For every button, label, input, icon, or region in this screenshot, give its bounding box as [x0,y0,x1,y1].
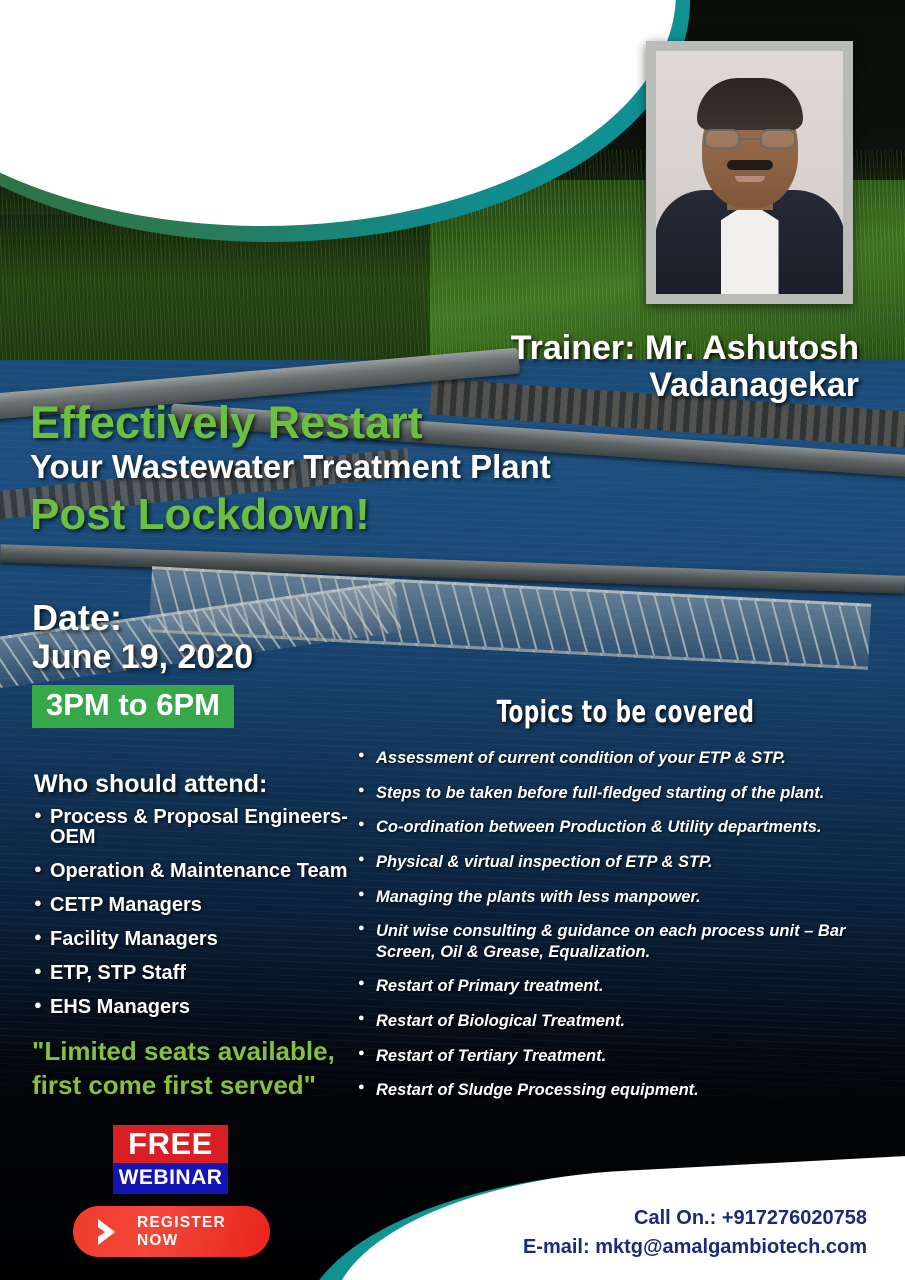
trainer-moustache [727,160,773,170]
trainer-shirt [721,202,779,294]
trainer-photo-inner [656,51,843,294]
list-item: EHS Managers [34,997,364,1017]
headline: Effectively Restart Your Wastewater Trea… [30,400,551,540]
trainer-name: Trainer: Mr. Ashutosh Vadanagekar [511,330,859,403]
list-item: Steps to be taken before full-fledged st… [358,783,893,804]
trainer-photo [646,41,853,304]
list-item: Facility Managers [34,929,364,949]
contact-phone[interactable]: Call On.: +917276020758 [523,1204,867,1233]
contact-block: Call On.: +917276020758 E-mail: mktg@ama… [523,1204,867,1262]
headline-line1: Effectively Restart [30,400,551,445]
time-badge: 3PM to 6PM [32,685,234,729]
list-item: Restart of Biological Treatment. [358,1011,893,1032]
register-now-button[interactable]: REGISTER NOW [73,1206,270,1257]
list-item: Process & Proposal Engineers-OEM [34,807,364,847]
list-item: Physical & virtual inspection of ETP & S… [358,852,893,873]
list-item: Co-ordination between Production & Utili… [358,817,893,838]
contact-email[interactable]: E-mail: mktg@amalgambiotech.com [523,1233,867,1262]
date-value: June 19, 2020 [32,636,253,679]
list-item: Managing the plants with less manpower. [358,887,893,908]
trainer-hair [697,78,803,130]
list-item: Restart of Tertiary Treatment. [358,1046,893,1067]
attendees-list: Process & Proposal Engineers-OEM Operati… [34,807,364,1017]
trainer-name-line2: Vadanagekar [511,367,859,404]
topics-title: Topics to be covered [412,695,840,730]
limited-seats-note: "Limited seats available, first come fir… [32,1035,362,1103]
list-item: Restart of Sludge Processing equipment. [358,1080,893,1101]
attendees-title: Who should attend: [34,770,364,799]
trainer-mouth [735,176,765,182]
list-item: CETP Managers [34,895,364,915]
free-webinar-badge: FREE WEBINAR [113,1125,228,1194]
date-block: Date: June 19, 2020 3PM to 6PM [32,600,253,728]
date-label: Date: [32,600,253,636]
list-item: Unit wise consulting & guidance on each … [358,921,893,962]
webinar-poster: biotech amalgam Innovations | Technologi… [0,0,905,1280]
topics-list: Assessment of current condition of your … [358,748,893,1101]
register-now-label: REGISTER NOW [137,1214,270,1250]
trainer-glasses-icon [704,129,796,149]
attendees-block: Who should attend: Process & Proposal En… [34,770,364,1031]
headline-line3: Post Lockdown! [30,490,551,541]
trainer-name-line1: Trainer: Mr. Ashutosh [511,330,859,367]
headline-line2: Your Wastewater Treatment Plant [30,445,551,490]
list-item: Restart of Primary treatment. [358,976,893,997]
chevron-right-icon [95,1217,121,1247]
list-item: Assessment of current condition of your … [358,748,893,769]
free-badge-top: FREE [113,1125,228,1163]
list-item: ETP, STP Staff [34,963,364,983]
free-badge-bottom: WEBINAR [113,1163,228,1194]
topics-block: Topics to be covered Assessment of curre… [358,695,893,1115]
list-item: Operation & Maintenance Team [34,861,364,881]
